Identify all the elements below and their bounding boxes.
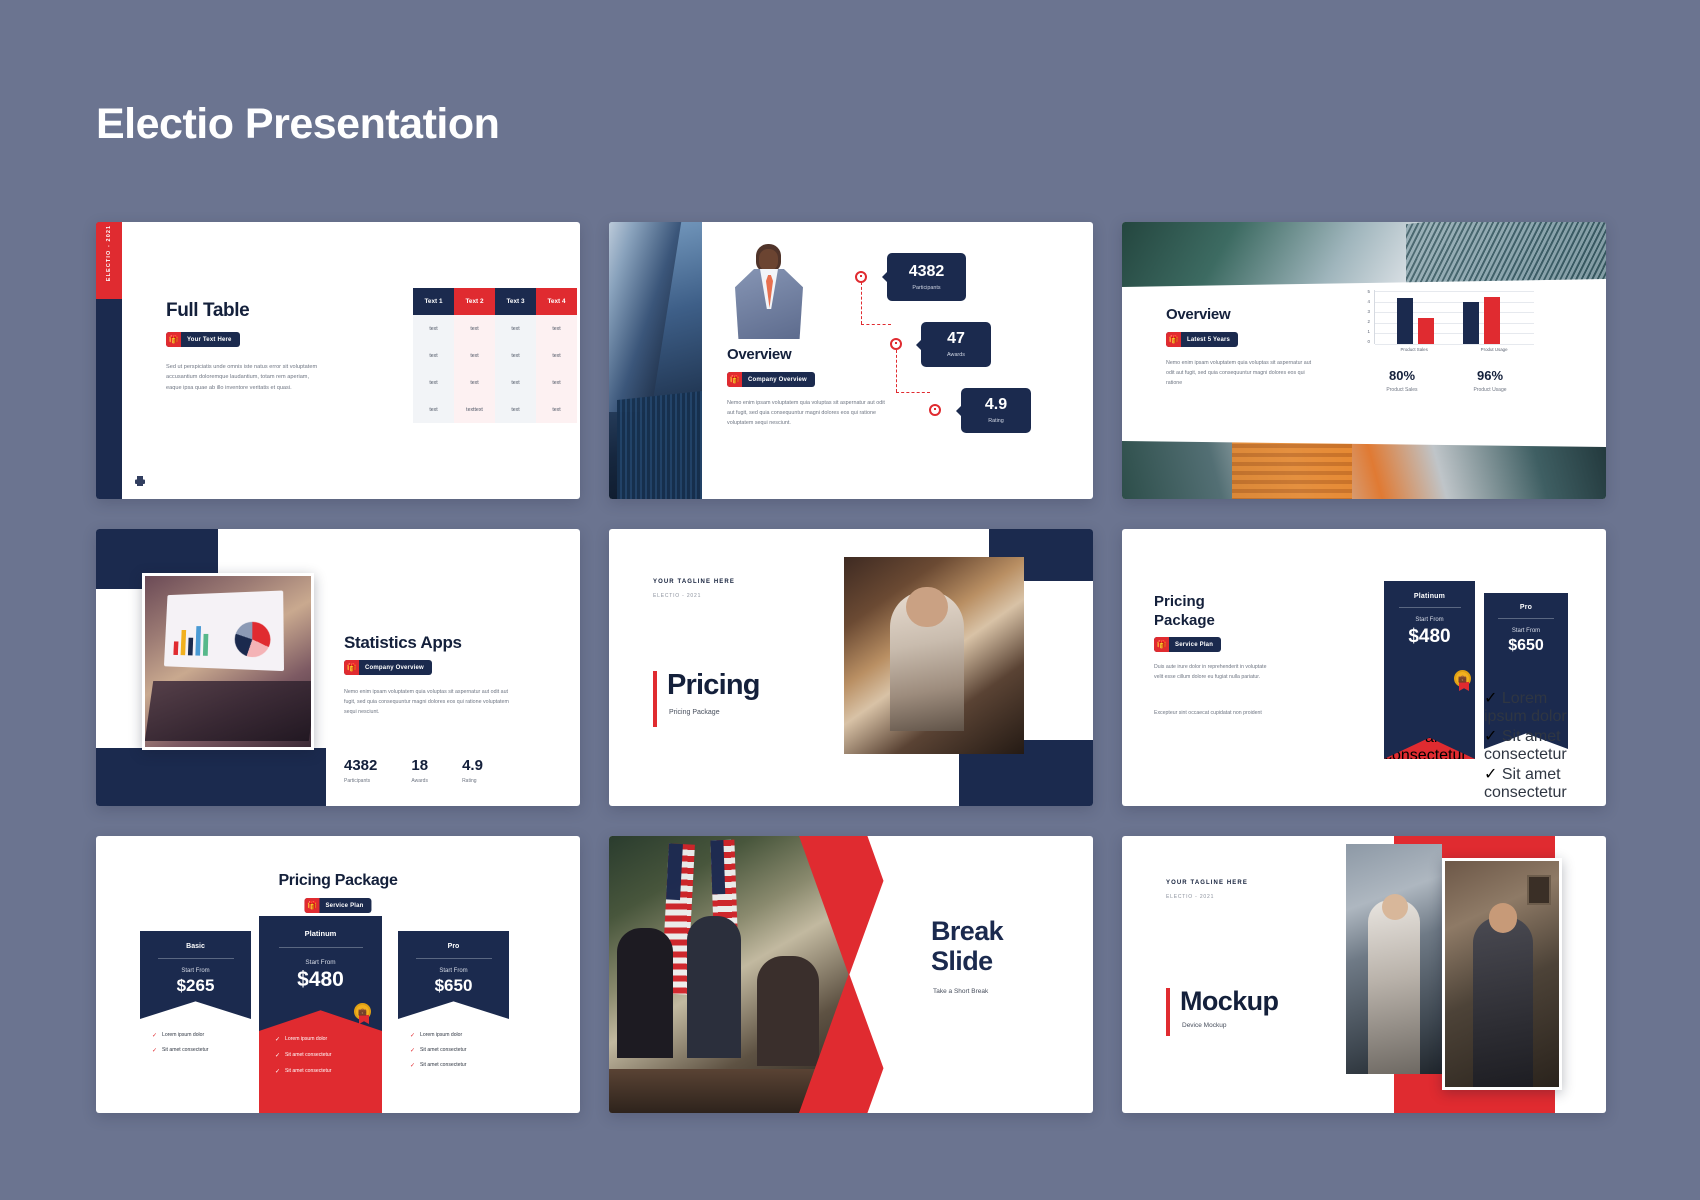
table-header-cell: Text 4: [536, 288, 577, 315]
stat-label: Participants: [912, 285, 940, 291]
slide-pricing-package-three[interactable]: Pricing Package 🎁 Service Plan Basic Sta…: [96, 836, 580, 1113]
bar-chart: 5 4 3 2 1 0: [1358, 290, 1534, 356]
check-icon: ✓: [152, 1032, 157, 1039]
divider: [158, 958, 234, 959]
table-cell: text: [495, 315, 536, 342]
plan-price: $650: [398, 976, 509, 996]
table-row: text text text text: [413, 369, 577, 396]
slide-overview-chart[interactable]: Overview 🎁 Latest 5 Years Nemo enim ipsa…: [1122, 222, 1606, 499]
slide5-subheading: Pricing Package: [669, 709, 720, 716]
slide6-paragraph-2: Excepteur sint occaecat cupidatat non pr…: [1154, 709, 1272, 719]
slide4-stats: 4382 Participants 18 Awards 4.9 Rating: [344, 757, 483, 784]
slide6-paragraph-1: Duis aute irure dolor in reprehenderit i…: [1154, 663, 1272, 682]
x-tick: Produt Usage: [1481, 347, 1508, 352]
plan-title: Basic: [140, 943, 251, 950]
slide1-badge-label: Your Text Here: [181, 337, 240, 343]
stat-value: 4382: [344, 757, 377, 774]
y-tick: 3: [1368, 310, 1370, 314]
check-icon: ✓: [410, 1032, 415, 1039]
slide7-basic-features: ✓ Lorem ipsum dolor ✓ Sit amet consectet…: [152, 1032, 252, 1054]
plan-title: Pro: [398, 943, 509, 950]
slide4-heading: Statistics Apps: [344, 633, 462, 653]
feature-label: Lorem ipsum dolor: [285, 1036, 327, 1043]
stat-block: 4.9 Rating: [462, 757, 483, 784]
slide3-percentages: 80% Product Sales 96% Product Usage: [1358, 368, 1534, 393]
feature-item: ✓ Sit amet consectetur: [1484, 726, 1568, 764]
slide5-heading: Pricing: [667, 669, 760, 702]
check-icon: ✓: [410, 1047, 415, 1054]
feature-item: ✓ Sit amet consectetur: [410, 1047, 510, 1054]
stat-label: Rating: [462, 778, 483, 784]
stat-value: 4382: [909, 264, 945, 280]
slide8-heading-line2: Slide: [931, 946, 993, 976]
slide9-tagline: YOUR TAGLINE HERE: [1166, 880, 1248, 886]
gridline: [1375, 344, 1534, 345]
slide2-heading: Overview: [727, 346, 791, 363]
check-icon: ✓: [1484, 728, 1497, 745]
gift-icon: 🎁: [166, 332, 181, 347]
check-icon: ✓: [410, 1062, 415, 1069]
feature-label: Sit amet consectetur: [1484, 728, 1567, 763]
plan-title: Platinum: [259, 929, 382, 938]
person-face: [759, 249, 778, 271]
slide3-paragraph: Nemo enim ipsam voluptatem quia voluptas…: [1166, 359, 1316, 388]
slide6-heading: Platinum PricingPackage: [1154, 593, 1215, 631]
slide5-photo: [844, 557, 1024, 754]
feature-item: ✓ Sit amet consectetur: [275, 1052, 366, 1059]
connector-line-h2: [896, 392, 930, 393]
slide2-paragraph: Nemo enim ipsam voluptatem quia voluptas…: [727, 398, 892, 428]
check-icon: ✓: [1484, 690, 1497, 707]
check-icon: ✓: [275, 1052, 280, 1059]
connector-line-v2: [896, 350, 897, 392]
slide7-pro-card[interactable]: Pro Start From $650: [398, 931, 509, 1019]
plan-from-label: Start From: [1484, 628, 1568, 634]
percentage-block: 96% Product Usage: [1446, 368, 1534, 393]
slide1-table: Text 1 Text 2 Text 3 Text 4 text text te…: [413, 288, 577, 423]
stat-value: 4.9: [985, 397, 1007, 413]
gridline: [1375, 291, 1534, 292]
plan-from-label: Start From: [259, 959, 382, 966]
divider: [1399, 607, 1461, 608]
feature-item: ✓ Sit amet consectetur: [1484, 764, 1568, 802]
printer-icon: [134, 475, 146, 487]
feature-label: Lorem ipsum dolor: [1484, 690, 1567, 725]
medal-icon: 💼: [1454, 670, 1471, 687]
gift-icon: 🎁: [1154, 637, 1169, 652]
feature-item: ✓ Lorem ipsum dolor: [152, 1032, 252, 1039]
gift-icon: 🎁: [344, 660, 359, 675]
slide1-heading: Full Table: [166, 300, 249, 322]
table-cell: texttext: [454, 396, 495, 423]
table-cell: text: [413, 342, 454, 369]
screen-pie-chart: [235, 622, 271, 658]
gift-icon: 🎁: [1166, 332, 1181, 347]
gift-icon: 🎁: [304, 898, 319, 913]
feature-label: Sit amet consectetur: [420, 1047, 466, 1054]
slide-statistics-apps[interactable]: Statistics Apps 🎁 Company Overview Nemo …: [96, 529, 580, 806]
slide2-badge[interactable]: 🎁 Company Overview: [727, 372, 815, 387]
slide7-basic-card[interactable]: Basic Start From $265: [140, 931, 251, 1019]
slide7-badge-label: Service Plan: [319, 903, 371, 909]
connector-node-2: [890, 338, 902, 350]
person-silhouette: [687, 916, 741, 1058]
percentage-value: 96%: [1446, 368, 1534, 383]
percentage-label: Product Usage: [1446, 387, 1534, 393]
slide7-heading: Pricing Package: [96, 872, 580, 890]
feature-item: ✓ Lorem ipsum dolor: [275, 1036, 366, 1043]
feature-item: ✓ Sit amet consectetur: [1384, 765, 1475, 803]
plan-title: Platinum: [1384, 593, 1475, 600]
table-row: text texttext text text: [413, 396, 577, 423]
feature-label: Sit amet consectetur: [1384, 767, 1467, 802]
check-icon: ✓: [1384, 767, 1397, 784]
percentage-value: 80%: [1358, 368, 1446, 383]
person-silhouette: [757, 956, 819, 1066]
stat-label: Awards: [947, 352, 965, 358]
chart-plot-area: [1374, 290, 1534, 344]
plan-title: Pro: [1484, 604, 1568, 611]
medal-icon: 💼: [354, 1003, 371, 1020]
divider: [1498, 618, 1554, 619]
table-cell: text: [413, 315, 454, 342]
screen-minibars: [173, 622, 208, 656]
stat-label: Rating: [988, 418, 1004, 424]
table-cell: text: [536, 315, 577, 342]
stat-value: 4.9: [462, 757, 483, 774]
feature-label: Sit amet consectetur: [420, 1062, 466, 1069]
chart-group-1: [1397, 298, 1434, 344]
slides-grid: ELECTIO - 2021 Full Table 🎁 Your Text He…: [96, 222, 1606, 1113]
slide9-subtagline: ELECTIO - 2021: [1166, 894, 1214, 900]
divider: [416, 958, 492, 959]
bar-series1-cat1: [1397, 298, 1413, 344]
y-tick: 0: [1368, 340, 1370, 344]
feature-item: ✓ Sit amet consectetur: [152, 1047, 252, 1054]
slide3-badge-label: Latest 5 Years: [1181, 337, 1238, 343]
check-icon: ✓: [275, 1068, 280, 1075]
slide9-accent-rule: [1166, 988, 1170, 1036]
y-tick: 5: [1368, 290, 1370, 294]
table-row: text text text text: [413, 315, 577, 342]
stat-block: 18 Awards: [411, 757, 428, 784]
table-header-cell: Text 2: [454, 288, 495, 315]
plan-price: $265: [140, 976, 251, 996]
slide2-badge-label: Company Overview: [742, 377, 815, 383]
slide6-badge[interactable]: 🎁 Service Plan: [1154, 637, 1221, 652]
slide3-badge[interactable]: 🎁 Latest 5 Years: [1166, 332, 1238, 347]
y-tick: 4: [1368, 300, 1370, 304]
stat-value: 47: [947, 331, 965, 347]
slide1-red-tab: ELECTIO - 2021: [96, 222, 122, 299]
table-cell: text: [454, 315, 495, 342]
slide1-body: Full Table 🎁 Your Text Here Sed ut persp…: [122, 222, 580, 499]
y-tick: 2: [1368, 320, 1370, 324]
slide3-heading: Overview: [1166, 306, 1230, 323]
slide-overview-stats[interactable]: Overview 🎁 Company Overview Nemo enim ip…: [609, 222, 1093, 499]
slide9-heading: Mockup: [1180, 986, 1278, 1017]
plan-from-label: Start From: [140, 968, 251, 974]
table-cell: text: [536, 396, 577, 423]
stat-value: 18: [411, 757, 428, 774]
plan-price: $480: [259, 968, 382, 992]
slide9-photo-left: [1346, 844, 1442, 1074]
table-cell: text: [495, 369, 536, 396]
slide4-paragraph: Nemo enim ipsam voluptatem quia voluptas…: [344, 688, 511, 717]
chart-y-axis: 5 4 3 2 1 0: [1358, 290, 1370, 344]
table-row: text text text text: [413, 342, 577, 369]
table-cell: text: [413, 369, 454, 396]
gift-icon: 🎁: [727, 372, 742, 387]
picture-frame: [1527, 875, 1551, 905]
page-title: Electio Presentation: [96, 100, 499, 149]
slide-break[interactable]: Break Slide Take a Short Break: [609, 836, 1093, 1113]
slide8-heading-line1: Break: [931, 916, 1003, 946]
slide2-building-photo: [609, 222, 702, 499]
feature-label: Lorem ipsum dolor: [162, 1032, 204, 1039]
plan-from-label: Start From: [398, 968, 509, 974]
table-cell: text: [536, 369, 577, 396]
slide4-navy-block-bottom: [96, 748, 326, 806]
slide6-badge-label: Service Plan: [1169, 642, 1221, 648]
laptop-keyboard: [145, 681, 314, 741]
feature-label: Lorem ipsum dolor: [420, 1032, 462, 1039]
slide9-subheading: Device Mockup: [1182, 1022, 1226, 1029]
plan-from-label: Start From: [1384, 617, 1475, 623]
feature-item: ✓ Lorem ipsum dolor: [410, 1032, 510, 1039]
slide3-bottom-photo: [1122, 437, 1606, 499]
bar-series2-cat2: [1484, 297, 1500, 344]
percentage-block: 80% Product Sales: [1358, 368, 1446, 393]
slide6-pro-features: ✓ Lorem ipsum dolor ✓ Sit amet consectet…: [1484, 688, 1568, 802]
connector-line-v1: [861, 282, 862, 324]
slide4-badge[interactable]: 🎁 Company Overview: [344, 660, 432, 675]
slide4-laptop-photo: [142, 573, 314, 750]
feature-label: Sit amet consectetur: [285, 1068, 331, 1075]
slide8-subheading: Take a Short Break: [933, 988, 988, 995]
slide1-paragraph: Sed ut perspiciatis unde omnis iste natu…: [166, 362, 326, 393]
slide5-subtagline: ELECTIO - 2021: [653, 593, 701, 599]
plan-price: $650: [1484, 637, 1568, 655]
stat-label: Awards: [411, 778, 428, 784]
bar-series1-cat2: [1463, 302, 1479, 344]
table-cell: text: [536, 342, 577, 369]
chart-x-axis: Product Sales Produt Usage: [1374, 347, 1534, 352]
connector-line-h1: [861, 324, 891, 325]
slide5-tagline: YOUR TAGLINE HERE: [653, 579, 735, 585]
table-header-cell: Text 3: [495, 288, 536, 315]
stat-card: 4.9 Rating: [961, 388, 1031, 433]
feature-item: ✓ Sit amet consectetur: [275, 1068, 366, 1075]
slide8-heading: Break Slide: [931, 916, 1003, 976]
table-cell: text: [413, 396, 454, 423]
slide9-photo-right: [1442, 858, 1562, 1090]
feature-label: Sit amet consectetur: [162, 1047, 208, 1054]
slide-full-table[interactable]: ELECTIO - 2021 Full Table 🎁 Your Text He…: [96, 222, 580, 499]
feature-item: ✓ Lorem ipsum dolor: [1484, 688, 1568, 726]
y-tick: 1: [1368, 330, 1370, 334]
table-header-cell: Text 1: [413, 288, 454, 315]
stat-card: 4382 Participants: [887, 253, 966, 301]
slide2-person-photo: [727, 242, 811, 338]
laptop-screen: [164, 591, 284, 672]
table-cell: text: [454, 342, 495, 369]
slide1-vertical-label: ELECTIO - 2021: [106, 222, 112, 295]
feature-label: Sit amet consectetur: [1484, 766, 1567, 801]
slide-pricing-title[interactable]: YOUR TAGLINE HERE ELECTIO - 2021 Pricing…: [609, 529, 1093, 806]
feature-label: Sit amet consectetur: [285, 1052, 331, 1059]
table-cell: text: [454, 369, 495, 396]
slide5-accent-rule: [653, 671, 657, 727]
person-silhouette: [617, 928, 673, 1058]
table-header-row: Text 1 Text 2 Text 3 Text 4: [413, 288, 577, 315]
slide-mockup[interactable]: YOUR TAGLINE HERE ELECTIO - 2021 Mockup …: [1122, 836, 1606, 1113]
stat-block: 4382 Participants: [344, 757, 377, 784]
slide7-badge[interactable]: 🎁 Service Plan: [304, 898, 371, 913]
slide7-pro-features: ✓ Lorem ipsum dolor ✓ Sit amet consectet…: [410, 1032, 510, 1069]
percentage-label: Product Sales: [1358, 387, 1446, 393]
stat-card: 47 Awards: [921, 322, 991, 367]
check-icon: ✓: [1484, 766, 1497, 783]
slide4-badge-label: Company Overview: [359, 665, 432, 671]
slide-pricing-package-two[interactable]: Platinum PricingPackage 🎁 Service Plan D…: [1122, 529, 1606, 806]
table-cell: text: [495, 396, 536, 423]
stat-label: Participants: [344, 778, 377, 784]
connector-node-3: [929, 404, 941, 416]
table-cell: text: [495, 342, 536, 369]
check-icon: ✓: [152, 1047, 157, 1054]
plan-price: $480: [1384, 626, 1475, 648]
check-icon: ✓: [275, 1036, 280, 1043]
feature-item: ✓ Sit amet consectetur: [410, 1062, 510, 1069]
bar-series2-cat1: [1418, 318, 1434, 344]
x-tick: Product Sales: [1400, 347, 1427, 352]
divider: [279, 947, 363, 948]
chart-group-2: [1463, 297, 1500, 344]
slide1-badge[interactable]: 🎁 Your Text Here: [166, 332, 240, 347]
